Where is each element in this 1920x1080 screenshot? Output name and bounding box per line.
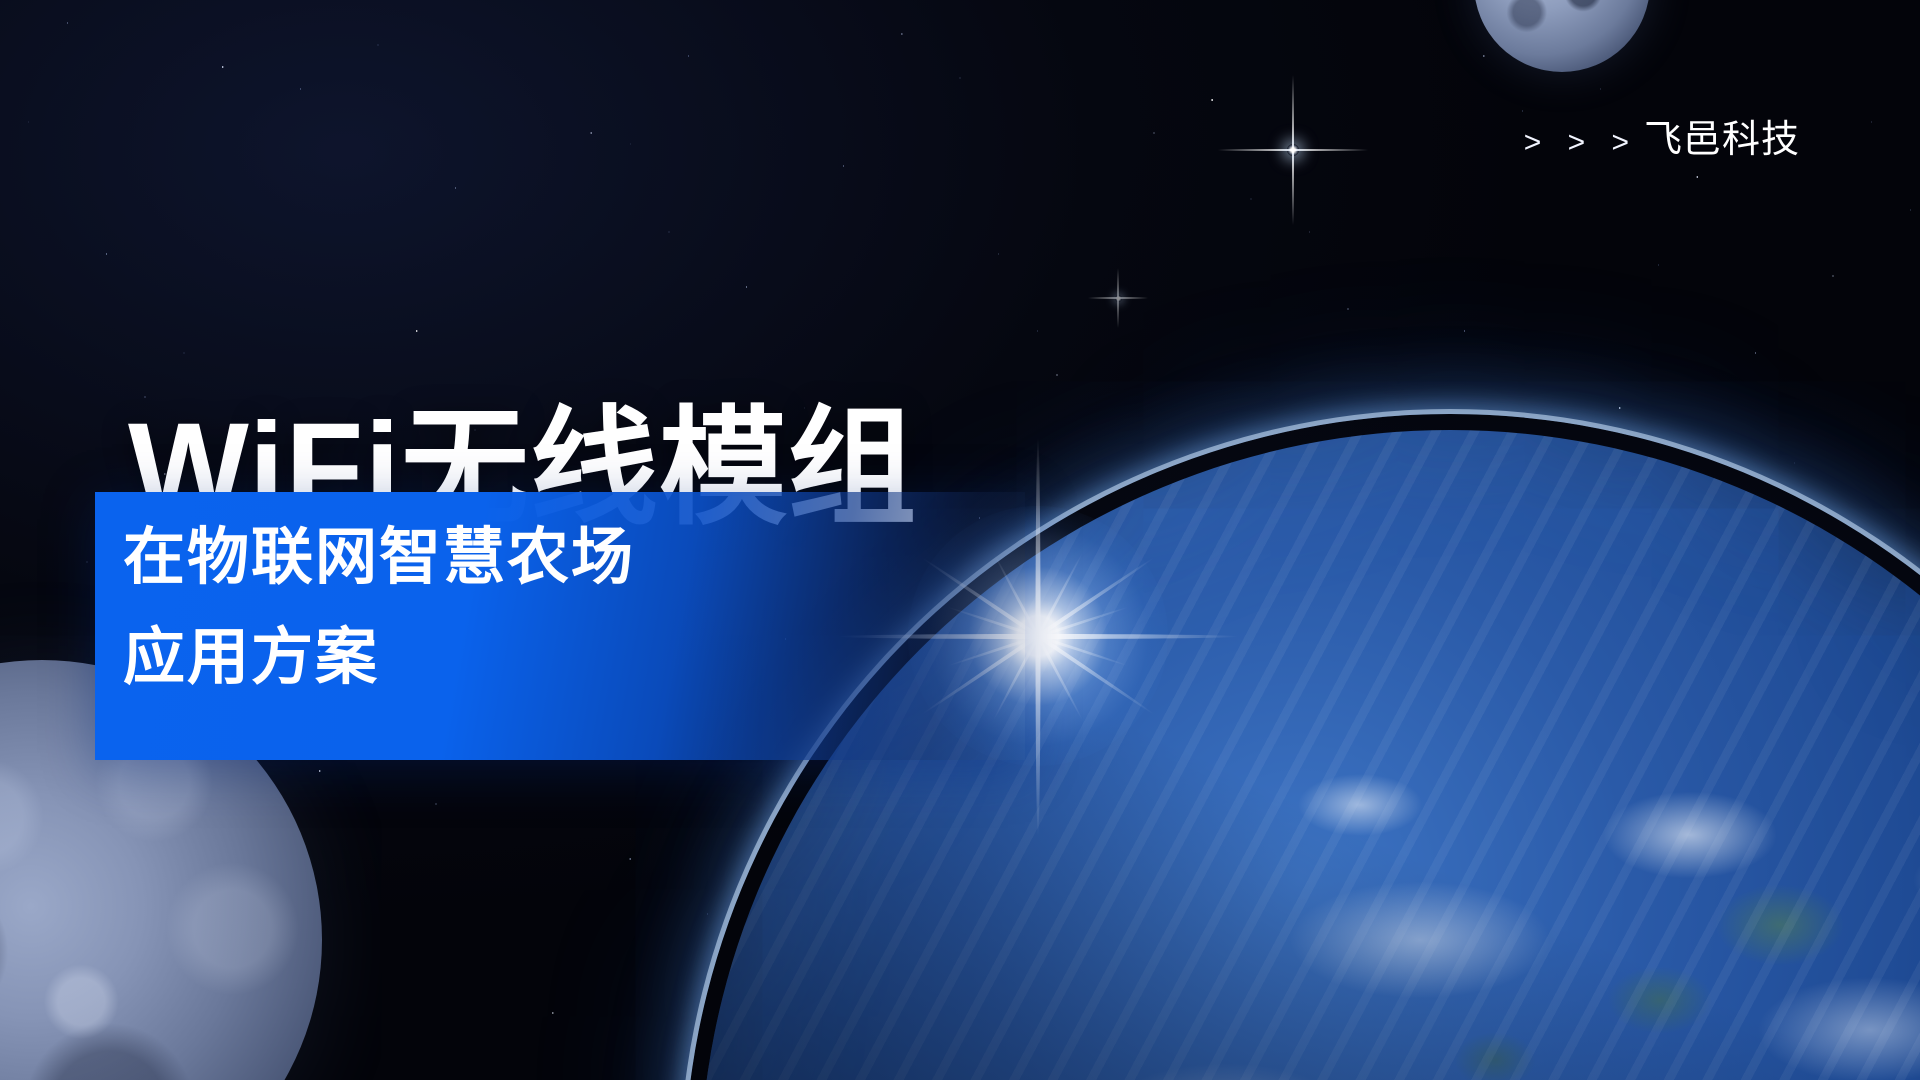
subtitle-line-1: 在物联网智慧农场: [123, 508, 1015, 608]
brand-logo[interactable]: > > > 飞邑科技: [1524, 108, 1800, 163]
subtitle-line-2: 应用方案: [123, 608, 1015, 708]
subtitle-panel: 在物联网智慧农场 应用方案: [95, 492, 1025, 760]
subtitle-text: 在物联网智慧农场 应用方案: [123, 508, 1015, 709]
brand-chevrons-icon: > > >: [1524, 126, 1638, 160]
slide-canvas: > > > 飞邑科技 WiFi无线模组 在物联网智慧农场 应用方案: [0, 0, 1920, 1080]
brand-name: 飞邑科技: [1644, 108, 1800, 163]
